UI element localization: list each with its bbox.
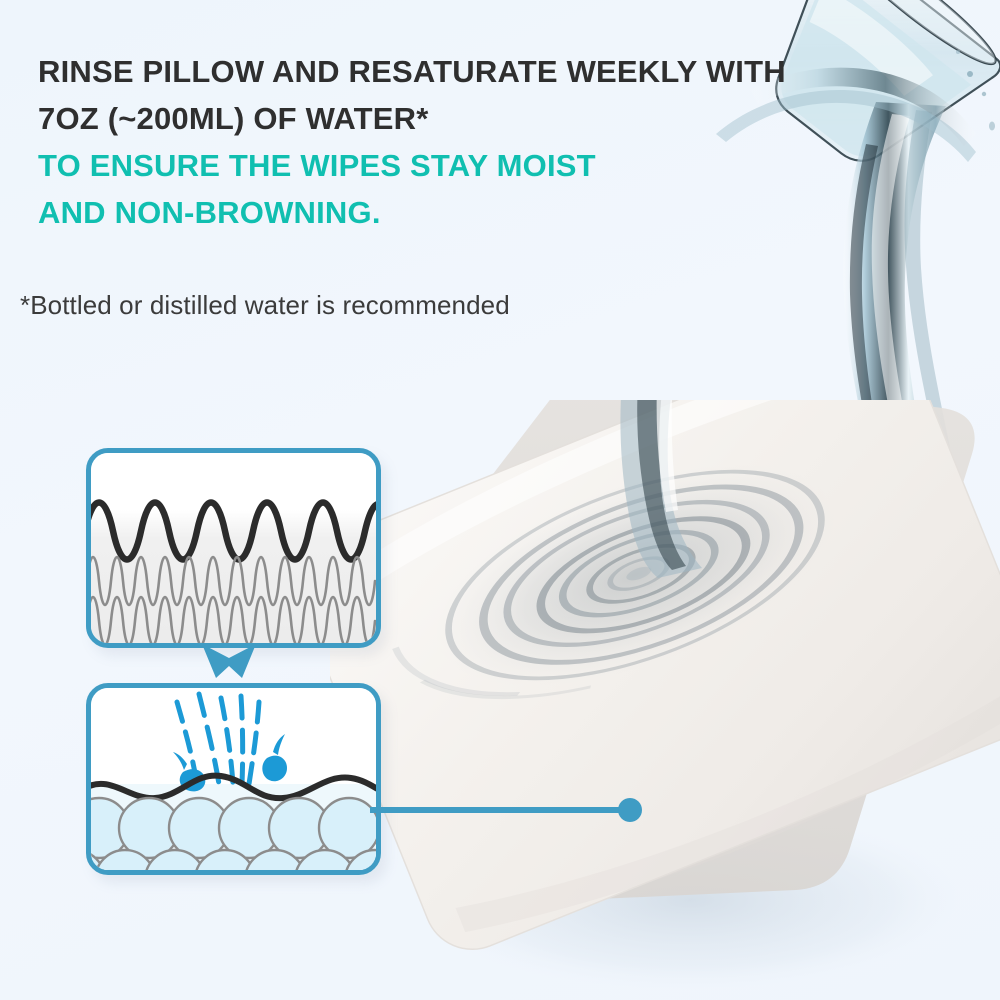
bubble-row-2: [91, 850, 376, 870]
callout-leader-line: [370, 798, 650, 822]
chevron-down-icon: [198, 638, 260, 682]
headline-line-1: RINSE PILLOW AND RESATURATE WEEKLY WITH: [38, 48, 868, 95]
headline-line-2: 7OZ (~200ML) OF WATER*: [38, 95, 868, 142]
callout-dry-fibers: [86, 448, 381, 648]
headline-line-4: AND NON-BROWNING.: [38, 189, 868, 236]
infographic-canvas: RINSE PILLOW AND RESATURATE WEEKLY WITH …: [0, 0, 1000, 1000]
callout-water-absorption: [86, 683, 381, 875]
leader-end-dot: [618, 798, 642, 822]
leader-bar: [370, 807, 628, 813]
wipe-pillow-image: [330, 400, 1000, 1000]
flow-arrow-down: [198, 638, 260, 682]
footnote-text: *Bottled or distilled water is recommend…: [20, 290, 510, 321]
headline-line-3: TO ENSURE THE WIPES STAY MOIST: [38, 142, 868, 189]
absorption-diagram: [91, 688, 376, 870]
dry-fiber-diagram: [91, 453, 376, 643]
pillow-svg: [330, 400, 1000, 1000]
headline-block: RINSE PILLOW AND RESATURATE WEEKLY WITH …: [38, 48, 868, 236]
bubble-row-1: [91, 798, 376, 858]
